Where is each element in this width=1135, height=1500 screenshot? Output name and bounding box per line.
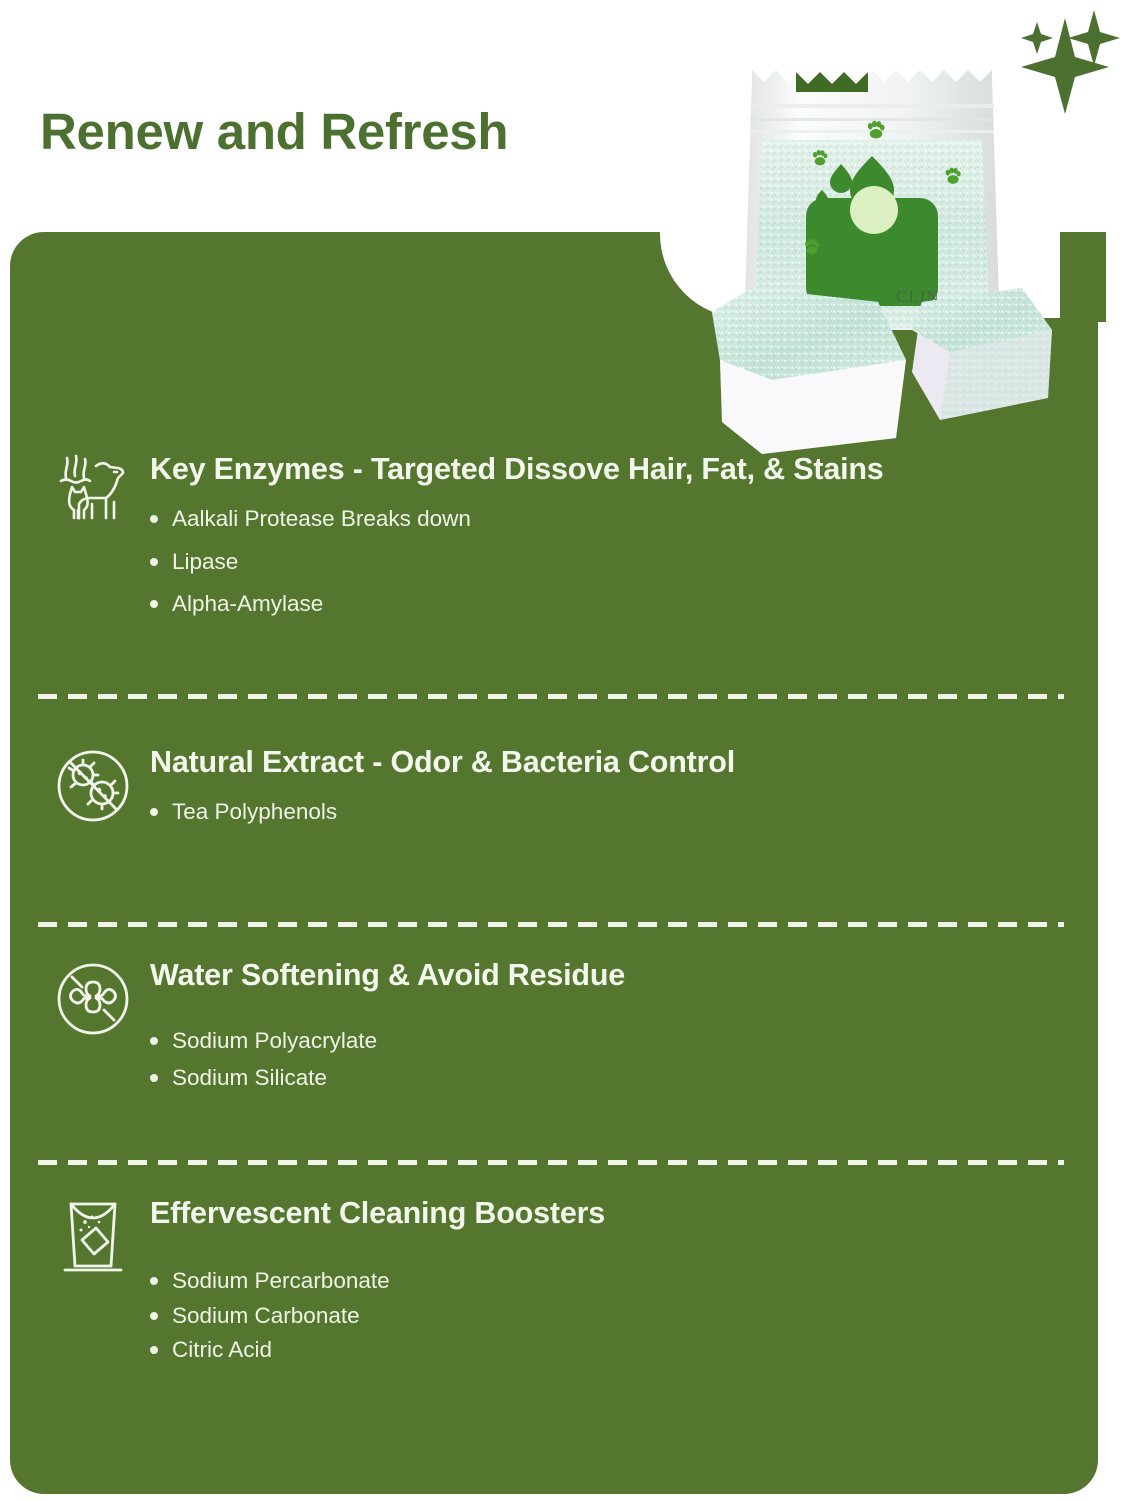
section-title: Effervescent Cleaning Boosters xyxy=(150,1196,605,1231)
bullet-dot xyxy=(150,1277,158,1285)
section-bullet-list: Aalkali Protease Breaks down Lipase Alph… xyxy=(150,508,471,636)
section-title: Key Enzymes - Targeted Dissove Hair, Fat… xyxy=(150,452,884,487)
section-divider xyxy=(38,694,1064,699)
section-divider xyxy=(38,922,1064,927)
section-bullet-list: Sodium Percarbonate Sodium Carbonate Cit… xyxy=(150,1270,390,1374)
section-bullet-list: Sodium Polyacrylate Sodium Silicate xyxy=(150,1030,377,1103)
bullet-dot xyxy=(150,1312,158,1320)
list-item: Sodium Silicate xyxy=(150,1067,377,1090)
list-item: Tea Polyphenols xyxy=(150,801,337,824)
list-item: Aalkali Protease Breaks down xyxy=(150,508,471,531)
bullet-dot xyxy=(150,558,158,566)
bullet-label: Aalkali Protease Breaks down xyxy=(172,508,471,531)
effervescent-tablet xyxy=(912,288,1052,420)
section-title: Water Softening & Avoid Residue xyxy=(150,958,625,993)
no-bacteria-icon xyxy=(52,745,134,827)
bullet-dot xyxy=(150,808,158,816)
bullet-dot xyxy=(150,1346,158,1354)
product-image: CLIN xyxy=(700,30,1070,460)
fizzing-glass-icon xyxy=(52,1196,134,1278)
bullet-label: Alpha-Amylase xyxy=(172,593,323,616)
headline-line-1: Renew and Refresh xyxy=(40,102,700,162)
dog-odor-icon xyxy=(52,452,134,534)
bullet-label: Lipase xyxy=(172,551,238,574)
section-divider xyxy=(38,1160,1064,1165)
bullet-dot xyxy=(150,1037,158,1045)
list-item: Sodium Polyacrylate xyxy=(150,1030,377,1053)
bullet-dot xyxy=(150,515,158,523)
water-softening-molecule-icon xyxy=(52,958,134,1040)
pouch-bag: CLIN xyxy=(744,70,1000,330)
bullet-label: Tea Polyphenols xyxy=(172,801,337,824)
bullet-label: Sodium Carbonate xyxy=(172,1305,360,1328)
list-item: Lipase xyxy=(150,551,471,574)
section-title: Natural Extract - Odor & Bacteria Contro… xyxy=(150,745,735,780)
list-item: Citric Acid xyxy=(150,1339,390,1362)
bullet-label: Citric Acid xyxy=(172,1339,272,1362)
bullet-label: Sodium Percarbonate xyxy=(172,1270,390,1293)
bullet-label: Sodium Polyacrylate xyxy=(172,1030,377,1053)
list-item: Sodium Percarbonate xyxy=(150,1270,390,1293)
infographic-root: Renew and Refresh with Powerful ingredie… xyxy=(0,0,1135,1500)
list-item: Sodium Carbonate xyxy=(150,1305,390,1328)
effervescent-tablet xyxy=(712,288,906,454)
bullet-label: Sodium Silicate xyxy=(172,1067,327,1090)
bullet-dot xyxy=(150,1074,158,1082)
section-bullet-list: Tea Polyphenols xyxy=(150,801,337,844)
bullet-dot xyxy=(150,600,158,608)
list-item: Alpha-Amylase xyxy=(150,593,471,616)
